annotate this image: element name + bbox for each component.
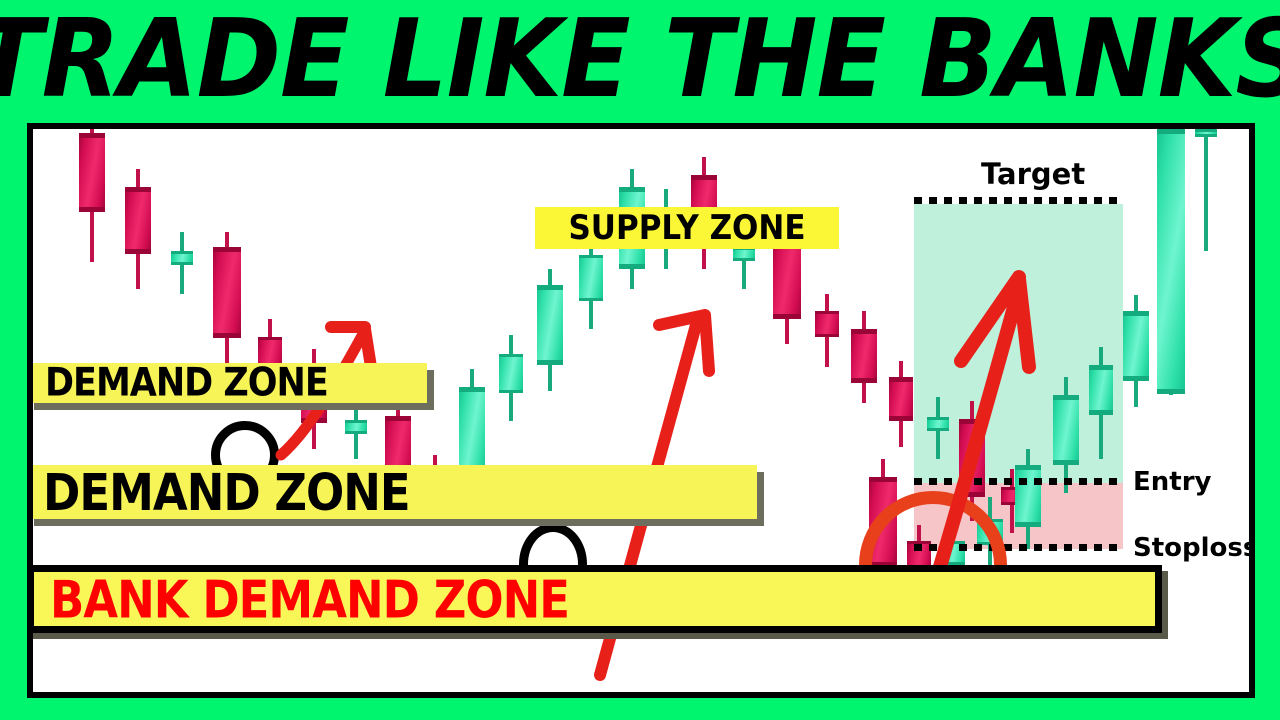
candle: [691, 129, 717, 279]
candle-body: [1053, 395, 1079, 465]
candle-body: [733, 247, 755, 261]
candle-body: [1123, 311, 1149, 381]
bank-demand-zone-callout[interactable]: BANK DEMAND ZONE: [27, 565, 1162, 633]
candle-body: [815, 311, 839, 337]
candle: [125, 129, 151, 299]
candle-body: [125, 187, 151, 254]
candle-body: [1089, 365, 1113, 415]
candle: [171, 129, 193, 304]
candle-body: [345, 420, 367, 434]
target-label: Target: [981, 157, 1085, 191]
stoploss-label: Stoploss: [1133, 533, 1255, 563]
entry-label: Entry: [1133, 467, 1211, 497]
supply-zone-label: SUPPLY ZONE: [568, 208, 805, 248]
demand-zone-1-label: DEMAND ZONE: [27, 361, 328, 406]
arrow-mid-head: [659, 315, 709, 371]
candle-body: [459, 387, 485, 477]
supply-zone-callout[interactable]: SUPPLY ZONE: [535, 207, 839, 249]
candle-wick: [1204, 129, 1208, 251]
bank-demand-zone-label: BANK DEMAND ZONE: [34, 569, 569, 630]
candle-body: [1195, 129, 1217, 137]
thumbnail-canvas: TRADE LIKE THE BANKS: [0, 0, 1280, 720]
entry-line: [914, 478, 1124, 485]
demand-zone-2-callout[interactable]: DEMAND ZONE: [27, 465, 757, 519]
candle: [537, 129, 563, 399]
candle-body: [1157, 129, 1185, 394]
title-banner: TRADE LIKE THE BANKS: [0, 0, 1280, 118]
candle-body: [213, 247, 241, 338]
candle: [385, 129, 411, 514]
candle: [345, 129, 367, 464]
candle: [1089, 129, 1113, 479]
candle: [815, 129, 839, 374]
candle: [499, 129, 523, 429]
candle: [79, 129, 105, 269]
candle: [1015, 129, 1041, 569]
candle: [1195, 129, 1217, 259]
demand-zone-2-label: DEMAND ZONE: [27, 462, 410, 521]
candle: [1157, 129, 1185, 409]
candle-body: [537, 285, 563, 365]
candle: [655, 129, 677, 279]
candle: [1123, 129, 1149, 429]
candle: [213, 129, 241, 384]
candle-body: [171, 251, 193, 265]
candle-body: [1015, 465, 1041, 527]
candle-body: [79, 133, 105, 212]
candle-body: [579, 255, 603, 301]
demand-zone-1-callout[interactable]: DEMAND ZONE: [27, 363, 427, 403]
chart-panel: Target Entry Stoploss: [27, 123, 1255, 698]
page-title: TRADE LIKE THE BANKS: [0, 5, 1280, 113]
target-line: [914, 197, 1124, 204]
candle-body: [499, 354, 523, 393]
